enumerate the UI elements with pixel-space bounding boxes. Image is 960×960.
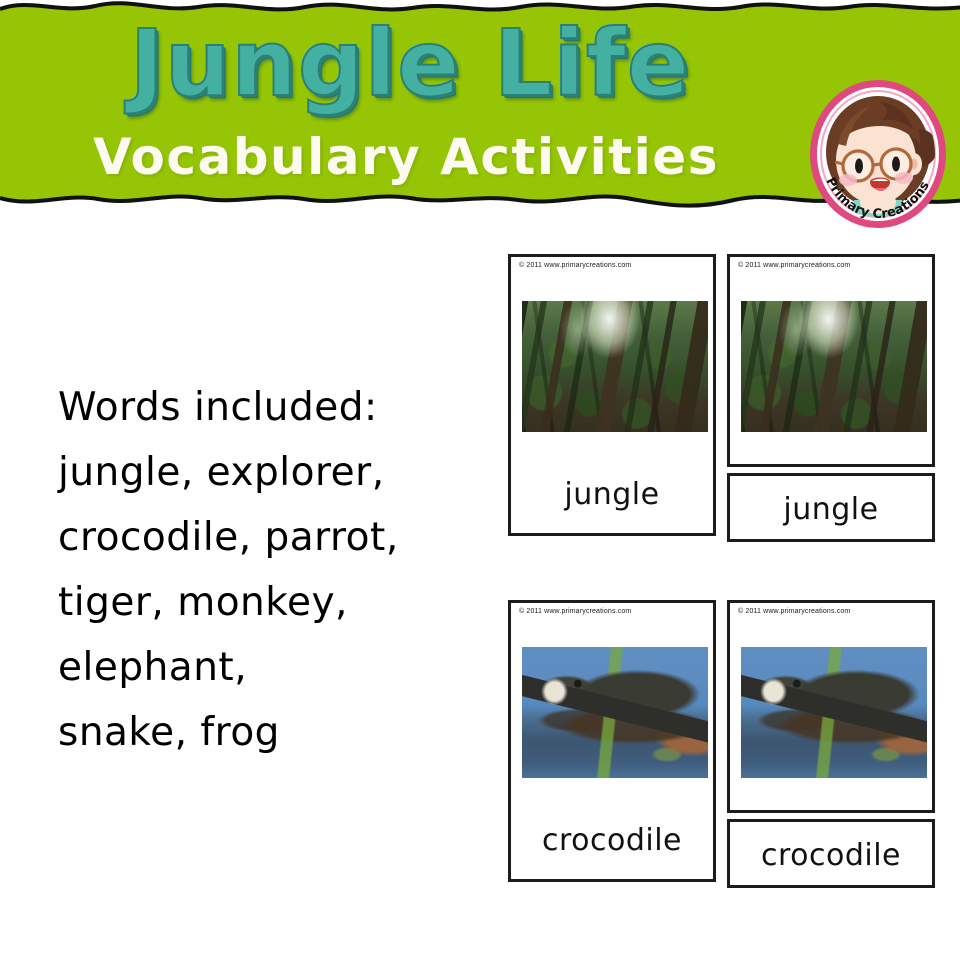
word-card-label-crocodile: crocodile <box>730 838 932 873</box>
word-card-jungle[interactable]: jungle <box>727 473 935 542</box>
picture-card-jungle[interactable]: © 2011 www.primarycreations.com <box>727 254 935 467</box>
picture-word-card-crocodile[interactable]: © 2011 www.primarycreations.com crocodil… <box>508 600 716 882</box>
poster-subtitle-container: Vocabulary Activities <box>0 124 812 190</box>
words-line-4: elephant, <box>58 648 478 687</box>
poster-subtitle: Vocabulary Activities <box>93 128 719 186</box>
poster-title: Jungle Life <box>130 10 691 117</box>
jungle-photo-right <box>741 301 927 432</box>
word-card-crocodile[interactable]: crocodile <box>727 819 935 888</box>
words-line-5: snake, frog <box>58 713 478 752</box>
card-word-crocodile-left: crocodile <box>511 823 713 858</box>
teacher-avatar-icon: Primary Creations <box>808 78 948 230</box>
card-copyright-crocodile-right: © 2011 www.primarycreations.com <box>738 608 850 615</box>
primary-creations-logo: Primary Creations Primary Creations <box>808 78 948 230</box>
card-copyright-jungle-left: © 2011 www.primarycreations.com <box>519 262 631 269</box>
words-included-heading: Words included: <box>58 388 478 427</box>
words-line-3: tiger, monkey, <box>58 583 478 622</box>
card-copyright-crocodile-left: © 2011 www.primarycreations.com <box>519 608 631 615</box>
words-line-1: jungle, explorer, <box>58 453 478 492</box>
poster-page: Jungle Life Vocabulary Activities <box>0 0 960 960</box>
jungle-photo <box>522 301 708 432</box>
words-included-panel: Words included: jungle, explorer, crocod… <box>58 388 478 778</box>
card-word-jungle-left: jungle <box>511 477 713 512</box>
crocodile-photo <box>522 647 708 778</box>
poster-title-container: Jungle Life <box>0 8 820 118</box>
picture-word-card-jungle[interactable]: © 2011 www.primarycreations.com jungle <box>508 254 716 536</box>
word-card-label-jungle: jungle <box>730 492 932 527</box>
picture-card-crocodile[interactable]: © 2011 www.primarycreations.com <box>727 600 935 813</box>
card-copyright-jungle-right: © 2011 www.primarycreations.com <box>738 262 850 269</box>
words-line-2: crocodile, parrot, <box>58 518 478 557</box>
crocodile-photo-right <box>741 647 927 778</box>
